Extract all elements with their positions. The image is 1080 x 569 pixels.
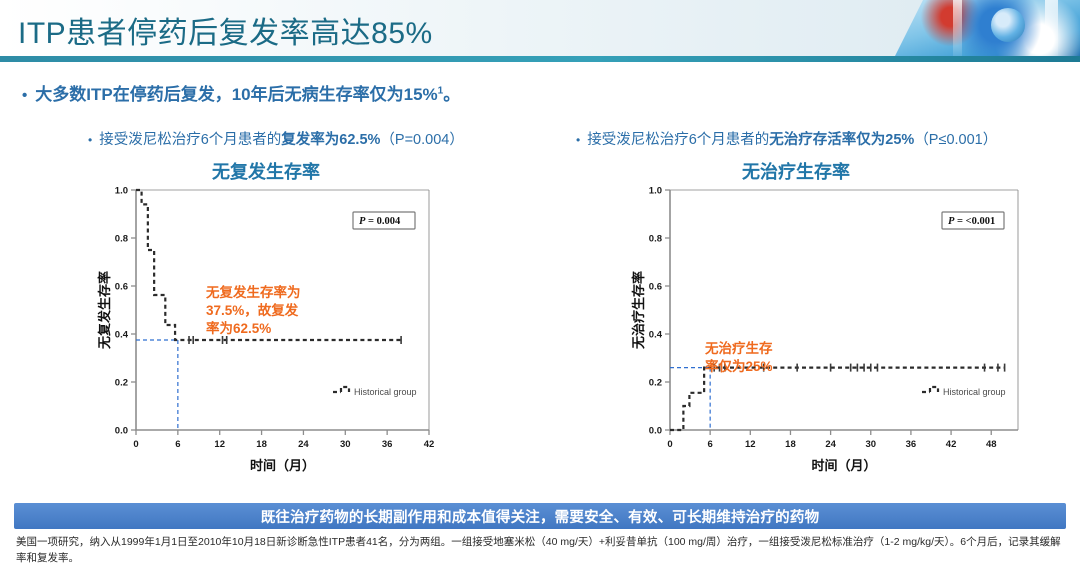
svg-text:6: 6 (708, 439, 713, 450)
main-bullet-text: 大多数ITP在停药后复发，10年后无病生存率仅为15% (35, 85, 437, 104)
footnote: 美国一项研究，纳入从1999年1月1日至2010年10月18日新诊断急性ITP患… (16, 534, 1066, 567)
svg-text:18: 18 (785, 439, 796, 450)
svg-text:12: 12 (745, 439, 756, 450)
svg-text:Historical group: Historical group (943, 387, 1006, 397)
chart-title-right: 无治疗生存率 (742, 158, 850, 184)
svg-text:24: 24 (298, 439, 309, 450)
svg-text:无复发生存率: 无复发生存率 (97, 271, 112, 350)
svg-text:P = <0.001: P = <0.001 (948, 216, 995, 227)
svg-text:0.6: 0.6 (649, 281, 662, 292)
header-decorative-image (895, 0, 1080, 56)
svg-text:P = 0.004: P = 0.004 (359, 216, 401, 227)
main-bullet: •大多数ITP在停药后复发，10年后无病生存率仅为15%1。 (22, 80, 460, 105)
svg-text:42: 42 (946, 439, 957, 450)
svg-text:时间（月）: 时间（月） (811, 458, 876, 473)
sub-bullet-left: •接受泼尼松治疗6个月患者的复发率为62.5%（P=0.004） (88, 128, 464, 149)
banner-text: 既往治疗药物的长期副作用和成本值得关注，需要安全、有效、可长期维持治疗的药物 (261, 506, 820, 527)
svg-text:Historical group: Historical group (354, 387, 417, 397)
svg-text:36: 36 (382, 439, 393, 450)
svg-text:0.4: 0.4 (649, 329, 663, 340)
chart-treatment-free-survival: 0.00.20.40.60.81.00612182430364248时间（月）无… (630, 182, 1030, 482)
svg-text:时间（月）: 时间（月） (250, 458, 315, 473)
svg-text:0: 0 (667, 439, 672, 450)
chart-title-left: 无复发生存率 (212, 158, 320, 184)
sub-bullet-left-pre: 接受泼尼松治疗6个月患者的 (99, 132, 281, 148)
art-highlight-2 (1045, 0, 1058, 56)
svg-text:0.0: 0.0 (649, 425, 662, 436)
annotation-right: 无治疗生存 率仅为25% (705, 340, 773, 376)
slide: ITP患者停药后复发率高达85% •大多数ITP在停药后复发，10年后无病生存率… (0, 0, 1080, 569)
globe-icon (991, 8, 1025, 42)
main-bullet-period: 。 (443, 85, 460, 104)
svg-text:0.8: 0.8 (649, 233, 662, 244)
svg-text:0.2: 0.2 (649, 377, 662, 388)
svg-text:0.6: 0.6 (115, 281, 128, 292)
svg-text:30: 30 (865, 439, 876, 450)
svg-text:1.0: 1.0 (115, 185, 128, 196)
page-title: ITP患者停药后复发率高达85% (18, 8, 433, 52)
svg-text:12: 12 (214, 439, 225, 450)
art-highlight-1 (953, 0, 962, 56)
svg-text:1.0: 1.0 (649, 185, 662, 196)
svg-text:0: 0 (133, 439, 138, 450)
bullet-dot-icon: • (88, 133, 92, 147)
svg-text:42: 42 (424, 439, 435, 450)
svg-text:0.0: 0.0 (115, 425, 128, 436)
header-divider (0, 56, 1080, 62)
sub-bullet-right-post: （P≤0.001） (914, 132, 997, 148)
svg-text:48: 48 (986, 439, 997, 450)
slide-header: ITP患者停药后复发率高达85% (0, 0, 1080, 62)
svg-text:24: 24 (825, 439, 836, 450)
sub-bullet-right: •接受泼尼松治疗6个月患者的无治疗存活率仅为25%（P≤0.001） (576, 128, 997, 149)
svg-text:36: 36 (906, 439, 917, 450)
sub-bullet-right-pre: 接受泼尼松治疗6个月患者的 (587, 132, 769, 148)
svg-text:无治疗生存率: 无治疗生存率 (631, 271, 646, 350)
svg-text:18: 18 (256, 439, 267, 450)
bullet-dot-icon: • (576, 133, 580, 147)
sub-bullet-left-post: （P=0.004） (380, 132, 463, 148)
svg-text:0.4: 0.4 (115, 329, 129, 340)
svg-text:0.2: 0.2 (115, 377, 128, 388)
svg-text:30: 30 (340, 439, 351, 450)
sub-bullet-left-highlight: 复发率为62.5% (281, 132, 380, 148)
sub-bullet-right-highlight: 无治疗存活率仅为25% (769, 132, 914, 148)
bullet-dot-icon: • (22, 87, 27, 104)
key-message-banner: 既往治疗药物的长期副作用和成本值得关注，需要安全、有效、可长期维持治疗的药物 (14, 503, 1066, 529)
annotation-left: 无复发生存率为 37.5%，故复发 率为62.5% (206, 284, 301, 337)
svg-text:0.8: 0.8 (115, 233, 128, 244)
svg-text:6: 6 (175, 439, 180, 450)
